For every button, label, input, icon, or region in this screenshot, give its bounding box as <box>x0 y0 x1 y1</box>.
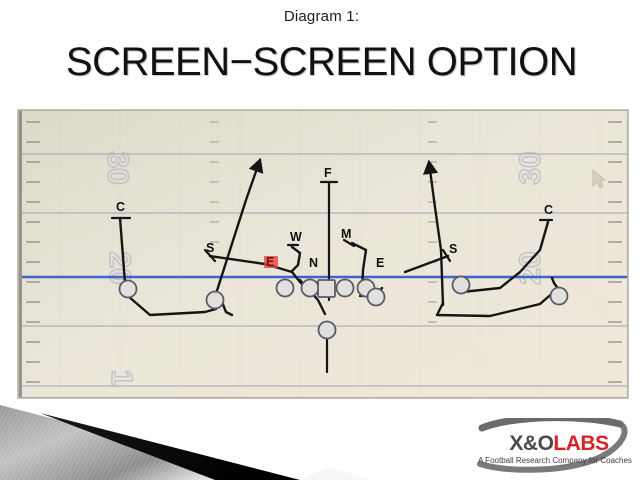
logo-tagline: A Football Research Company for Coaches <box>476 456 634 465</box>
player-lineman-1 <box>277 280 294 297</box>
yard-marker-20-left: 20 <box>103 251 136 284</box>
wedge-light <box>0 405 290 480</box>
wedge-fade <box>300 467 370 480</box>
label-end-right: E <box>376 256 384 270</box>
label-cornerback-right: C <box>544 203 553 217</box>
slide-subtitle: Diagram 1: <box>0 8 643 25</box>
yard-marker-30-right: 30 <box>514 151 547 184</box>
play-diagram-image: 30 20 30 20 1 <box>18 110 628 398</box>
player-lineman-5 <box>368 289 385 306</box>
player-receiver-right-slot <box>453 277 470 294</box>
player-receiver-far-left <box>120 281 137 298</box>
label-will-linebacker: W <box>290 230 302 244</box>
yard-marker-30-left: 30 <box>101 151 134 184</box>
label-hot-defender-E: E <box>266 255 274 269</box>
label-mike-linebacker: M <box>341 227 351 241</box>
logo: X&OLABS A Football Research Company for … <box>470 418 635 476</box>
player-center <box>318 280 335 297</box>
label-sam-linebacker: S <box>449 242 457 256</box>
label-cornerback-left: C <box>116 200 125 214</box>
yard-marker-20-right: 20 <box>514 251 547 284</box>
label-strong-safety-left: S <box>206 241 214 255</box>
wedge-hatch <box>0 405 290 480</box>
player-lineman-2 <box>302 280 319 297</box>
player-receiver-far-right <box>551 288 568 305</box>
label-free-safety: F <box>324 166 332 180</box>
logo-brand-secondary: LABS <box>553 432 608 455</box>
decorative-corner-wedge <box>0 395 400 480</box>
logo-wordmark: X&OLABS <box>484 432 634 456</box>
player-receiver-left-slot <box>207 292 224 309</box>
label-nose-tackle: N <box>309 256 318 270</box>
logo-brand-primary: X&O <box>509 432 553 455</box>
page-title: SCREEN−SCREEN OPTION <box>0 40 643 85</box>
yard-marker-bottom-left: 1 <box>105 370 138 387</box>
wedge-dark <box>40 413 300 480</box>
player-quarterback <box>319 322 336 339</box>
player-lineman-3 <box>337 280 354 297</box>
